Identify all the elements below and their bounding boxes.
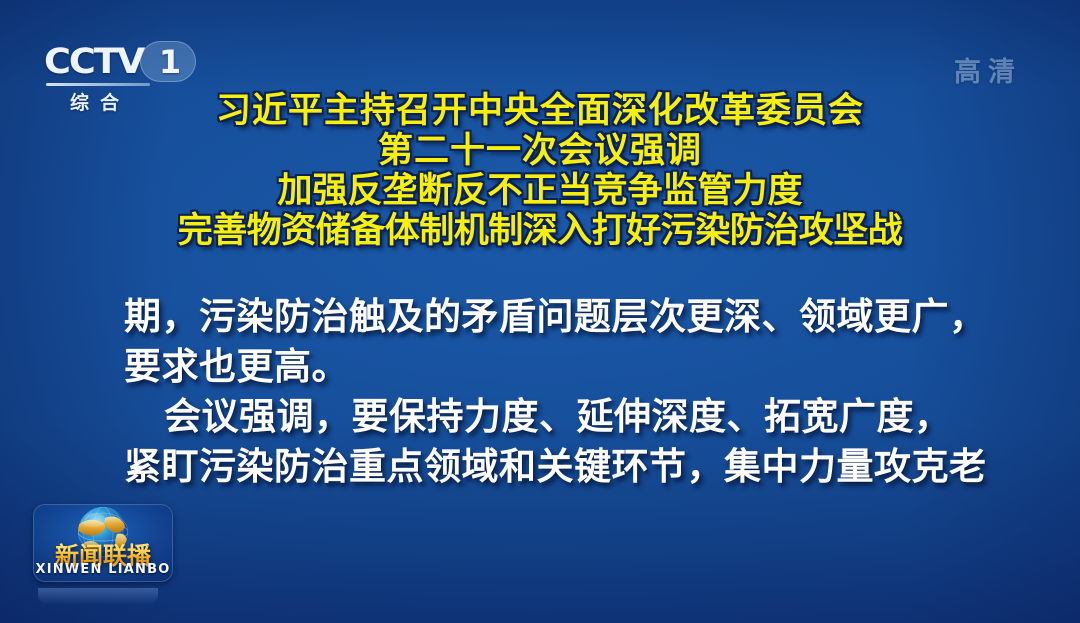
headline-line-1: 习近平主持召开中央全面深化改革委员会 [0,94,1080,129]
headline-line-2: 第二十一次会议强调 [0,134,1080,169]
headline-line-4: 完善物资储备体制机制深入打好污染防治攻坚战 [0,214,1080,249]
body-line-2: 要求也更高。 [124,342,964,392]
broadcast-screen: CCTV 1 综合 高清 习近平主持召开中央全面深化改革委员会 第二十一次会议强… [0,0,1080,623]
channel-number: 1 [157,43,183,81]
body-line-4: 紧盯污染防治重点领域和关键环节，集中力量攻克老 [124,442,964,492]
news-headline-block: 习近平主持召开中央全面深化改革委员会 第二十一次会议强调 加强反垄断反不正当竞争… [0,94,1080,254]
body-line-3: 会议强调，要保持力度、延伸深度、拓宽广度， [124,392,964,442]
hd-watermark: 高清 [954,50,1022,89]
program-logo-reflection [38,588,158,604]
program-logo-xinwen-lianbo: 新闻联播 XINWEN LIANBO [33,504,173,582]
headline-line-3: 加强反垄断反不正当竞争监管力度 [0,174,1080,209]
cctv-wordmark: CCTV [44,42,143,82]
body-line-1: 期，污染防治触及的矛盾问题层次更深、领域更广， [124,292,964,342]
cctv-underline-bar [46,83,150,86]
program-title-en: XINWEN LIANBO [33,562,173,577]
news-body-text: 期，污染防治触及的矛盾问题层次更深、领域更广， 要求也更高。 会议强调，要保持力… [124,292,964,492]
